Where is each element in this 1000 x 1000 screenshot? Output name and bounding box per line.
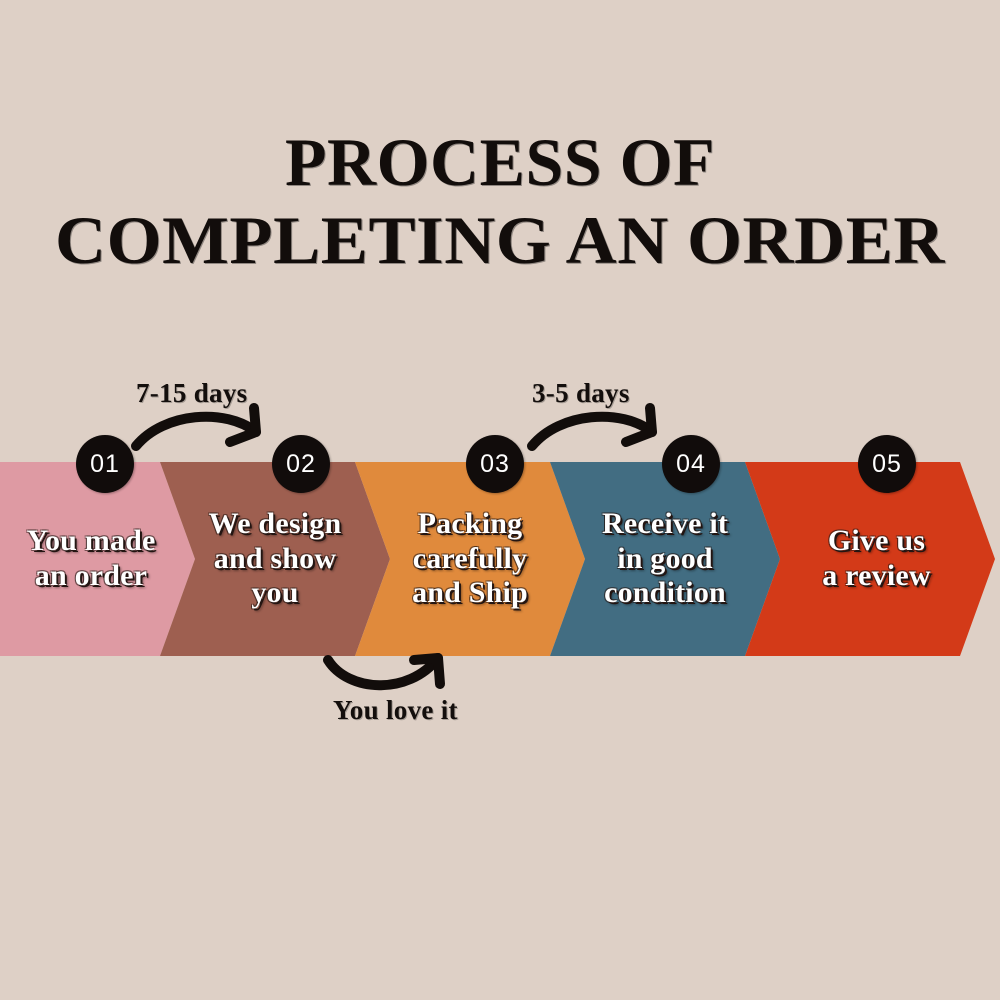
step-badge-2-number: 02 (286, 450, 316, 479)
step-badge-1: 01 (76, 435, 134, 493)
title-line-1: PROCESS OF (0, 128, 1000, 196)
step-badge-1-number: 01 (90, 450, 120, 479)
step-3-label: Packing carefully and Ship (406, 507, 534, 611)
step-badge-5: 05 (858, 435, 916, 493)
step-badge-3-number: 03 (480, 450, 510, 479)
infographic-canvas: PROCESS OF COMPLETING AN ORDER You made … (0, 0, 1000, 1000)
step-badge-3: 03 (466, 435, 524, 493)
step-1-label: You made an order (20, 524, 161, 594)
title-line-2: COMPLETING AN ORDER (0, 206, 1000, 274)
curved-arrow-up-right-icon (322, 648, 472, 698)
step-2-label: We design and show you (203, 507, 348, 611)
curved-arrow-right-icon (130, 402, 290, 462)
curved-arrow-right-icon-2 (526, 402, 686, 462)
process-step-5[interactable]: Give us a review (745, 462, 1000, 656)
annotation-label-you-love-it: You love it (333, 695, 458, 726)
step-badge-5-number: 05 (872, 450, 902, 479)
step-4-label: Receive it in good condition (596, 507, 734, 611)
step-5-label: Give us a review (816, 524, 937, 594)
page-title: PROCESS OF COMPLETING AN ORDER (0, 128, 1000, 274)
